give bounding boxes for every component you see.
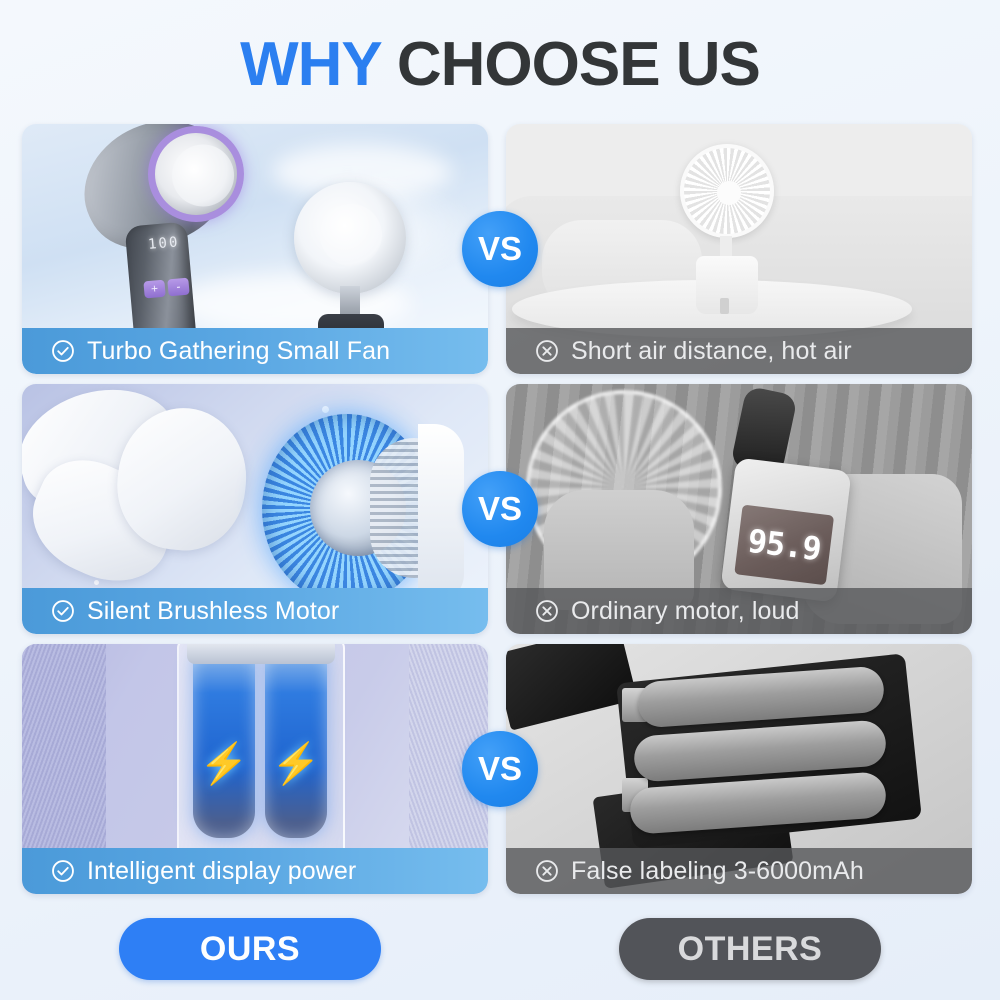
check-circle-icon: [50, 338, 76, 364]
fan-display-value: 100: [148, 234, 181, 253]
vs-badge-1: VS: [462, 211, 538, 287]
x-circle-icon: [534, 858, 560, 884]
others-caption-3-text: False labeling 3-6000mAh: [571, 857, 864, 886]
comparison-grid: 100 + - Turbo Gathering Small Fan: [22, 124, 978, 894]
comparison-row-1: 100 + - Turbo Gathering Small Fan: [22, 124, 978, 374]
others-card-1[interactable]: Short air distance, hot air: [506, 124, 972, 374]
others-caption-2-text: Ordinary motor, loud: [571, 597, 800, 626]
others-caption-1: Short air distance, hot air: [506, 328, 972, 374]
check-circle-icon: [50, 858, 76, 884]
ours-caption-2: Silent Brushless Motor: [22, 588, 488, 634]
vs-badge-3: VS: [462, 731, 538, 807]
fan-primary: 100 + -: [74, 124, 274, 340]
ours-pill-button[interactable]: OURS: [119, 918, 381, 980]
others-caption-3: False labeling 3-6000mAh: [506, 848, 972, 894]
competitor-desk-fan: [674, 144, 782, 314]
ours-caption-1: Turbo Gathering Small Fan: [22, 328, 488, 374]
page-title-highlight: WHY: [240, 30, 381, 99]
x-circle-icon: [534, 338, 560, 364]
ours-card-1[interactable]: 100 + - Turbo Gathering Small Fan: [22, 124, 488, 374]
others-card-2[interactable]: 95.9 Ordinary motor, loud: [506, 384, 972, 634]
ours-caption-1-text: Turbo Gathering Small Fan: [87, 337, 390, 366]
others-caption-1-text: Short air distance, hot air: [571, 337, 852, 366]
motor-assembly: [252, 406, 462, 614]
fan-secondary: [294, 182, 424, 352]
footer-others-column: OTHERS: [500, 918, 1000, 980]
others-card-3[interactable]: False labeling 3-6000mAh: [506, 644, 972, 894]
check-circle-icon: [50, 598, 76, 624]
footer-ours-column: OURS: [0, 918, 500, 980]
lightning-bolt-icon: ⚡: [199, 744, 249, 784]
others-pill-button[interactable]: OTHERS: [619, 918, 881, 980]
sound-meter-device: 95.9: [720, 457, 851, 602]
fan-minus-button[interactable]: -: [167, 278, 189, 297]
footer-legend: OURS OTHERS: [0, 918, 1000, 980]
page-title: WHY CHOOSE US: [0, 34, 1000, 96]
ours-caption-3: Intelligent display power: [22, 848, 488, 894]
x-circle-icon: [534, 598, 560, 624]
comparison-row-3: ⚡ ⚡ Intelligent display power: [22, 644, 978, 894]
vs-badge-2: VS: [462, 471, 538, 547]
lightning-bolt-icon: ⚡: [271, 744, 321, 784]
ours-card-3[interactable]: ⚡ ⚡ Intelligent display power: [22, 644, 488, 894]
page-header: WHY CHOOSE US: [0, 0, 1000, 122]
ours-caption-3-text: Intelligent display power: [87, 857, 356, 886]
ours-caption-2-text: Silent Brushless Motor: [87, 597, 339, 626]
battery-assembly: ⚡ ⚡: [177, 644, 345, 880]
page-title-rest: CHOOSE US: [397, 30, 760, 99]
comparison-row-2: Silent Brushless Motor 95.9: [22, 384, 978, 634]
meter-lcd-screen: 95.9: [734, 505, 834, 586]
ours-card-2[interactable]: Silent Brushless Motor: [22, 384, 488, 634]
meter-reading-value: 95.9: [746, 522, 823, 569]
fan-plus-button[interactable]: +: [143, 280, 165, 299]
others-caption-2: Ordinary motor, loud: [506, 588, 972, 634]
